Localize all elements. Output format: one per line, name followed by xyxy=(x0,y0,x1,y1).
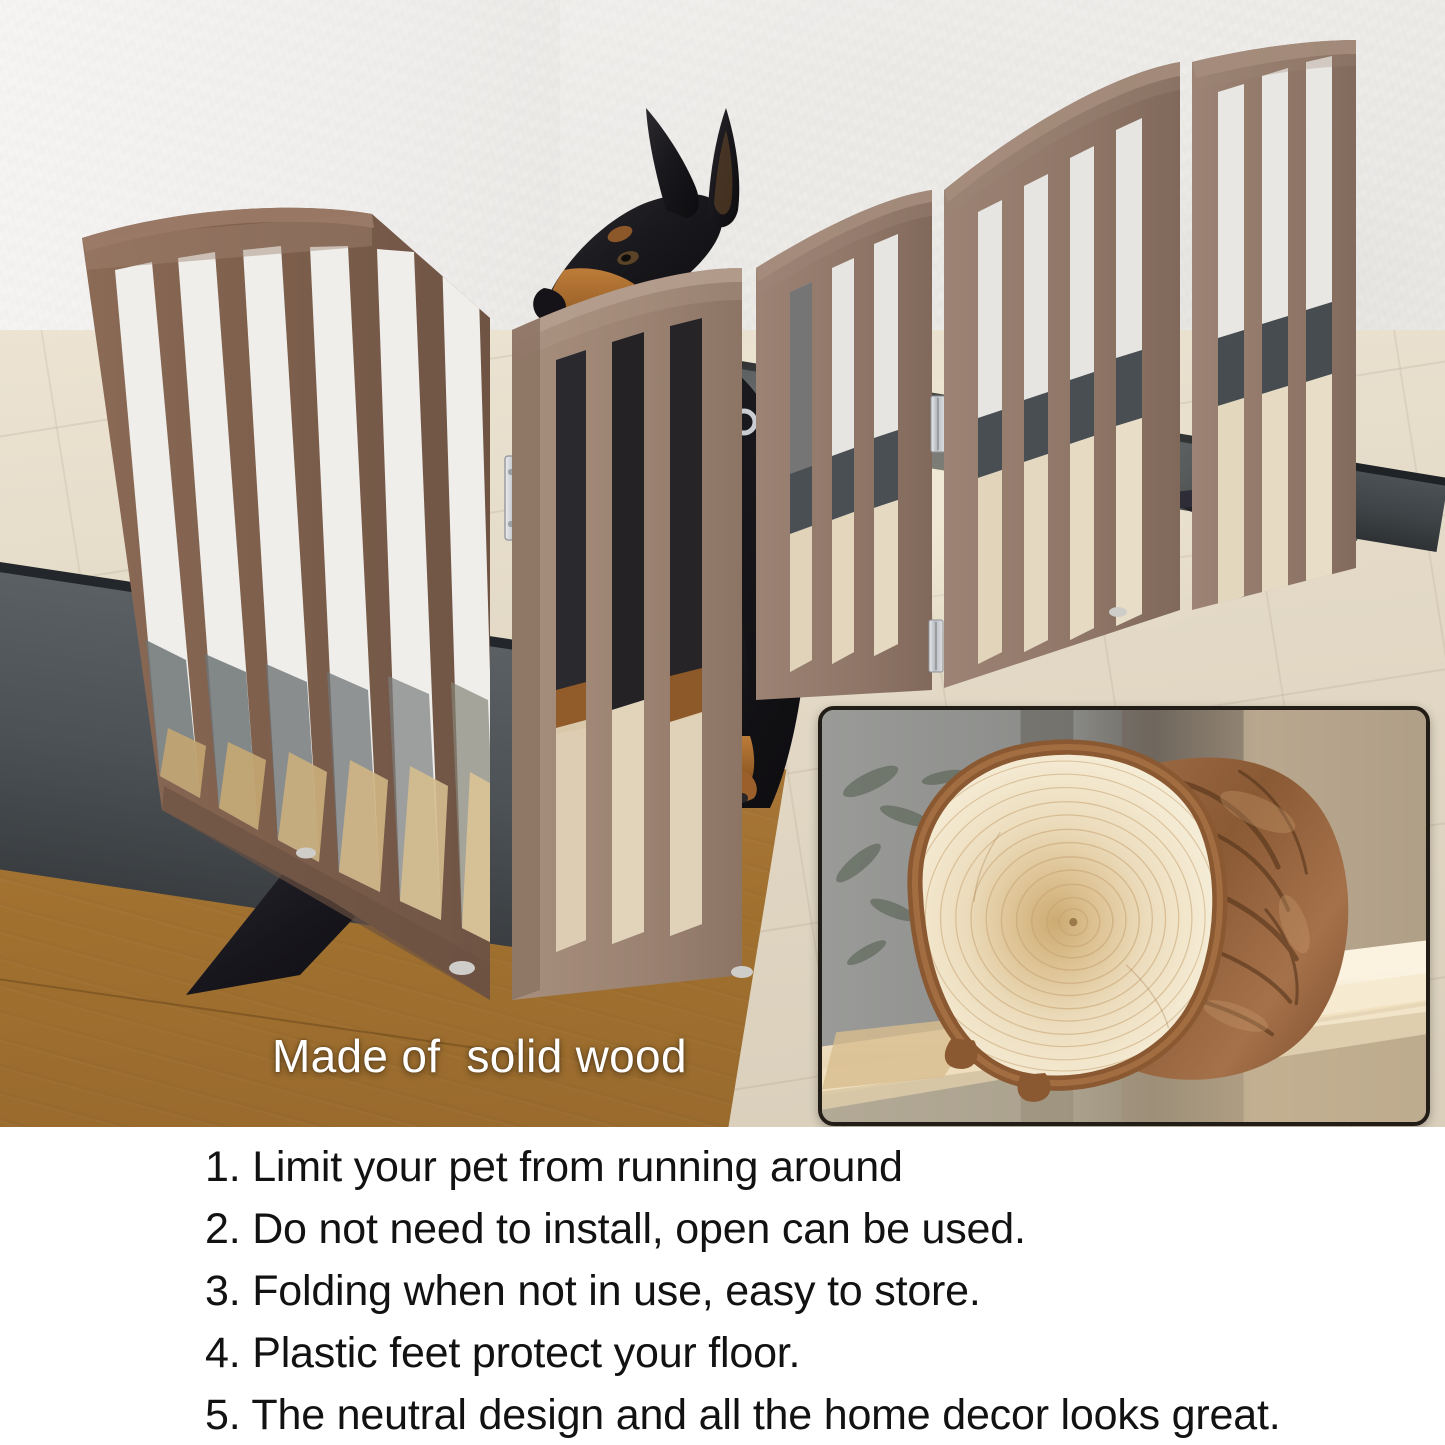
gate-panel-right-2 xyxy=(935,40,1195,700)
hinge xyxy=(929,620,943,672)
plastic-glide xyxy=(731,966,753,978)
list-item: 5. The neutral design and all the home d… xyxy=(205,1391,1280,1440)
product-listing-image: Made of solid wood xyxy=(0,0,1445,1445)
list-item: 2. Do not need to install, open can be u… xyxy=(205,1205,1026,1254)
feature-list: 1. Limit your pet from running around 2.… xyxy=(0,1127,1445,1445)
gate-panel-middle xyxy=(500,250,760,1030)
solid-wood-log-inset xyxy=(818,706,1430,1126)
list-item: 3. Folding when not in use, easy to stor… xyxy=(205,1267,981,1316)
photo-caption: Made of solid wood xyxy=(272,1029,687,1083)
list-item: 4. Plastic feet protect your floor. xyxy=(205,1329,800,1378)
hinge xyxy=(931,396,945,452)
plastic-glide xyxy=(449,961,475,975)
gate-panel-right-1 xyxy=(745,150,945,730)
main-product-photo: Made of solid wood xyxy=(0,0,1445,1127)
list-item: 1. Limit your pet from running around xyxy=(205,1143,903,1192)
plastic-glide xyxy=(1109,607,1127,617)
gate-panel-right-3 xyxy=(1185,20,1375,640)
plastic-glide xyxy=(296,848,316,859)
